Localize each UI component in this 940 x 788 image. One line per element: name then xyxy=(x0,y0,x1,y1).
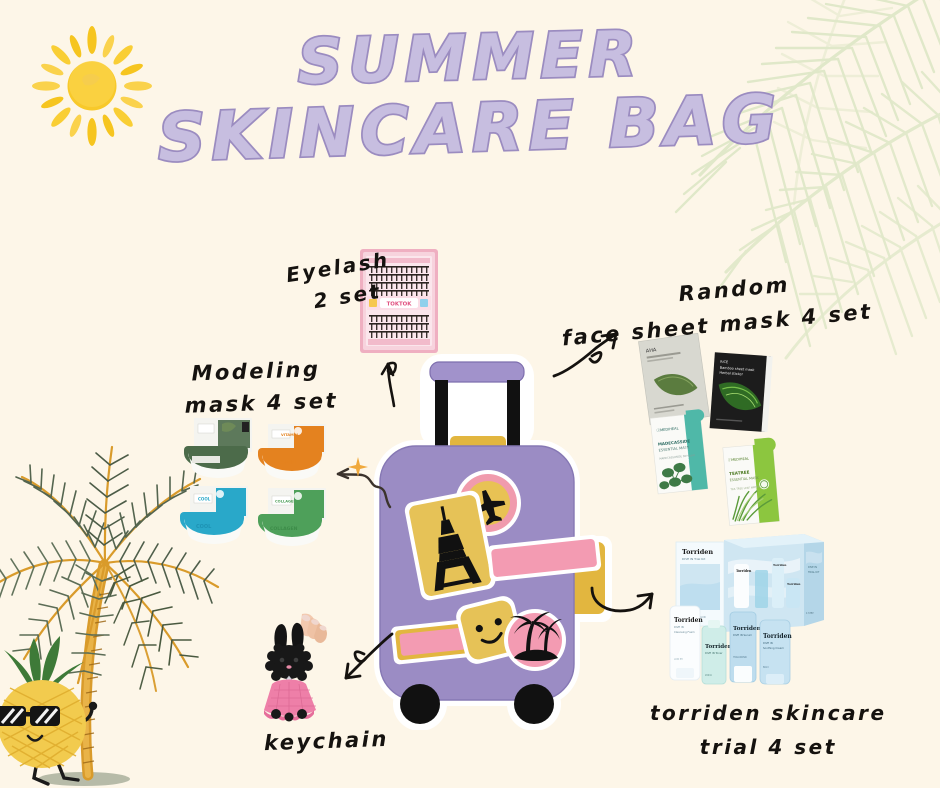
pineapple-character xyxy=(0,628,114,788)
svg-text:VITAMIN: VITAMIN xyxy=(272,460,296,466)
poster-canvas: SUMMER SKINCARE BAG xyxy=(0,0,940,788)
modeling-mask-cup-vitamin: VITAMIN VITAMIN xyxy=(258,424,326,480)
modeling-mask-cup-herb xyxy=(184,418,252,478)
sparkle-star-icon xyxy=(348,457,368,477)
torriden-cream: Torriden DIVE IN Soothing Cream 80ml xyxy=(760,620,792,684)
palm-tree-sticker xyxy=(504,609,566,671)
svg-text:Cleansing Foam: Cleansing Foam xyxy=(674,630,695,634)
sheet-mask-packet-madecassoside: ⓘMEDIHEAL MADECASSIDE ESSENTIAL MASK MAD… xyxy=(650,409,712,494)
sun-icon xyxy=(22,26,162,146)
svg-text:Torriden: Torriden xyxy=(736,569,752,573)
label-keychain-line1: keychain xyxy=(263,724,389,760)
svg-text:Torriden: Torriden xyxy=(787,582,800,586)
svg-text:Torriden: Torriden xyxy=(674,617,703,624)
svg-text:Torriden: Torriden xyxy=(733,626,762,632)
svg-text:Torriden: Torriden xyxy=(763,633,792,640)
svg-text:COOL: COOL xyxy=(198,496,211,501)
svg-text:DIVE IN Serum: DIVE IN Serum xyxy=(733,633,752,637)
label-modeling-line2: mask 4 set xyxy=(184,385,339,422)
label-modeling-line1: Modeling xyxy=(191,353,338,390)
svg-text:DIVE IN: DIVE IN xyxy=(763,641,773,645)
arrow-to-keychain xyxy=(330,628,396,682)
modeling-mask-cup-cool: COOL COOL xyxy=(180,486,248,544)
svg-text:VITAMIN: VITAMIN xyxy=(281,433,298,437)
torriden-cleansing-foam: Torriden DIVE IN Cleansing Foam LOW PH xyxy=(670,606,703,680)
svg-text:LOW PH: LOW PH xyxy=(674,658,683,661)
svg-text:Torriden: Torriden xyxy=(705,644,732,650)
sheet-mask-packet-herbal: RiCE Bamboo sheet mask Herbal sticker xyxy=(710,352,773,432)
bunny-keychain-product xyxy=(258,612,340,722)
sheet-mask-packets-product: AHA RiCE Bamboo sheet mask Herbal sticke… xyxy=(626,333,826,531)
svg-text:DIVE IN Toner: DIVE IN Toner xyxy=(705,651,723,655)
svg-text:RiCE: RiCE xyxy=(720,360,728,365)
torriden-trial-set-product: Torriden DIVE IN Trial Kit HYALURONIC AC… xyxy=(658,528,936,698)
svg-text:80ml: 80ml xyxy=(763,666,769,669)
svg-text:COOL: COOL xyxy=(196,524,212,530)
label-torriden-line1: torriden skincare xyxy=(650,698,887,728)
svg-text:DIVE IN: DIVE IN xyxy=(674,625,684,629)
svg-text:200ml: 200ml xyxy=(705,674,712,677)
svg-text:COLLAGEN: COLLAGEN xyxy=(270,526,298,532)
svg-text:Soothing Cream: Soothing Cream xyxy=(763,646,784,650)
sheet-mask-packet-teatree: ⓘMEDIHEAL TEATREE ESSENTIAL MASK TEA TRE… xyxy=(722,437,782,525)
label-torriden: torriden skincare trial 4 set xyxy=(650,698,887,762)
svg-text:Torriden: Torriden xyxy=(773,563,786,567)
arrow-to-torriden xyxy=(588,576,658,624)
label-modeling-mask: Modeling mask 4 set xyxy=(191,353,339,421)
svg-text:TRIAL KIT: TRIAL KIT xyxy=(808,571,820,574)
torriden-card-brand: Torriden xyxy=(682,548,713,556)
svg-text:DIVE IN: DIVE IN xyxy=(808,566,817,569)
svg-text:COLLAGEN: COLLAGEN xyxy=(275,499,296,503)
svg-text:DIVE IN Trial Kit: DIVE IN Trial Kit xyxy=(682,557,706,561)
label-torriden-line2: trial 4 set xyxy=(650,732,887,762)
modeling-mask-cup-collagen: COLLAGEN COLLAGEN xyxy=(258,488,326,546)
arrow-to-eyelash xyxy=(372,350,418,408)
svg-text:HYALURONIC: HYALURONIC xyxy=(733,656,748,659)
purple-suitcase-illustration xyxy=(368,352,618,730)
modeling-mask-cups-product: VITAMIN VITAMIN COOL COOL COLLAGEN COLLA… xyxy=(176,416,340,566)
label-keychain: keychain xyxy=(263,724,389,760)
svg-text:4 STEP: 4 STEP xyxy=(806,612,814,615)
